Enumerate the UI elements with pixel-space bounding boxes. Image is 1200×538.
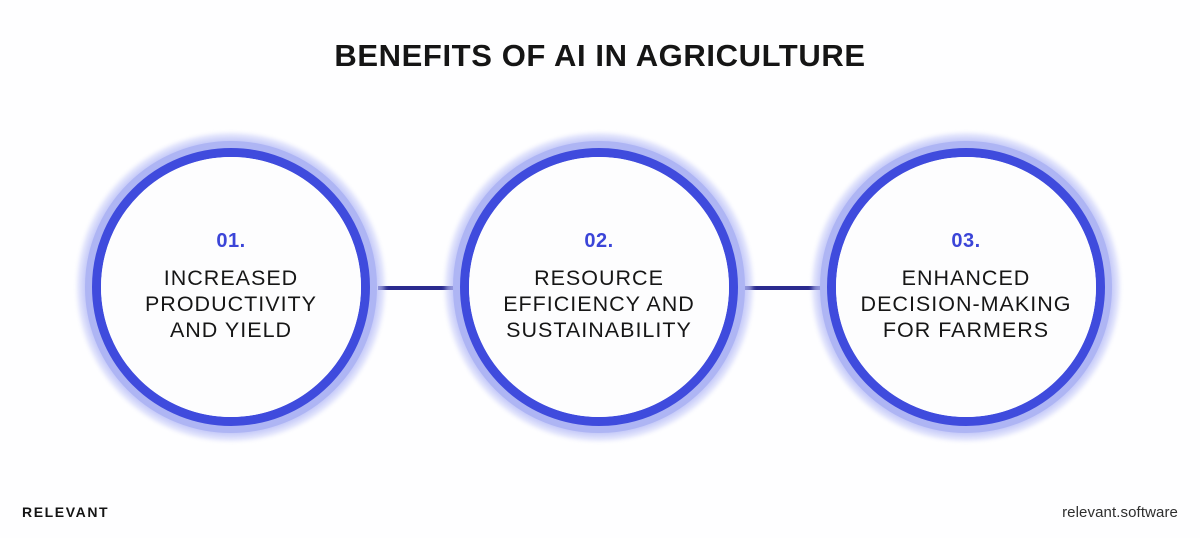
benefit-node-2[interactable]: 02. RESOURCE EFFICIENCY AND SUSTAINABILI… (443, 131, 755, 443)
benefit-node-1[interactable]: 01. INCREASED PRODUCTIVITY AND YIELD (75, 131, 387, 443)
benefit-label-3: ENHANCED DECISION-MAKING FOR FARMERS (816, 265, 1116, 343)
benefit-number-1: 01. (216, 231, 245, 251)
benefit-label-2: RESOURCE EFFICIENCY AND SUSTAINABILITY (449, 265, 749, 343)
benefit-number-3: 03. (951, 231, 980, 251)
brand-logo: RELEVANT (22, 504, 109, 520)
benefit-node-3[interactable]: 03. ENHANCED DECISION-MAKING FOR FARMERS (810, 131, 1122, 443)
brand-website-url: relevant.software (1062, 504, 1178, 521)
infographic-canvas: BENEFITS OF AI IN AGRICULTURE 01. INCREA… (0, 0, 1200, 538)
benefit-number-2: 02. (584, 231, 613, 251)
circle-content-disc: 02. RESOURCE EFFICIENCY AND SUSTAINABILI… (469, 157, 729, 417)
circle-content-disc: 03. ENHANCED DECISION-MAKING FOR FARMERS (836, 157, 1096, 417)
benefit-circles-row: 01. INCREASED PRODUCTIVITY AND YIELD 02.… (0, 0, 1200, 538)
circle-content-disc: 01. INCREASED PRODUCTIVITY AND YIELD (101, 157, 361, 417)
benefit-label-1: INCREASED PRODUCTIVITY AND YIELD (81, 265, 381, 343)
